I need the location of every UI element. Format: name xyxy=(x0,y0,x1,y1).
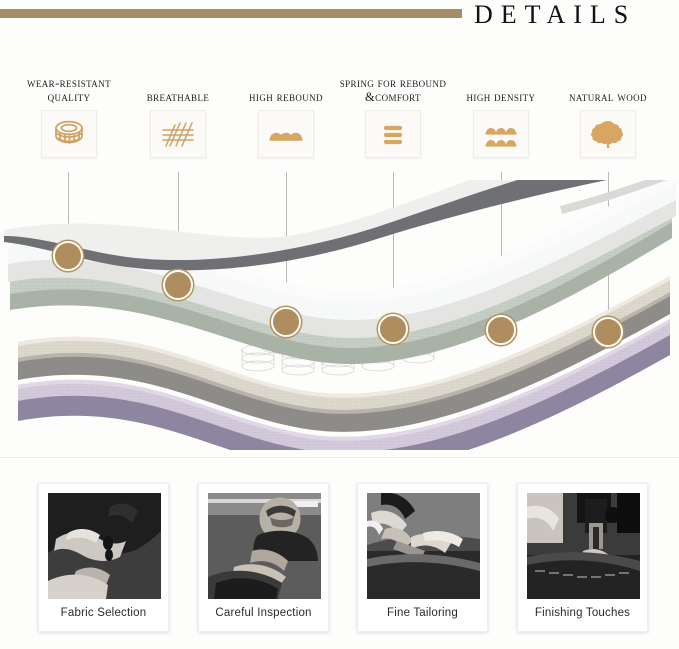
hotspot-breathable[interactable] xyxy=(163,270,193,300)
feature-list: Wear-Resistant Quality Breathable xyxy=(0,58,679,183)
feature-item-wear-resistant-quality[interactable]: Wear-Resistant Quality xyxy=(10,58,128,158)
diagonal-springs-icon xyxy=(373,117,413,151)
hotspot-natural-wood[interactable] xyxy=(593,317,623,347)
feature-item-high-density[interactable]: High Density xyxy=(442,58,560,158)
process-card-list: Fabric Selection Ca xyxy=(0,470,679,649)
hotspot-high-density[interactable] xyxy=(486,315,516,345)
hotspot-wear-resistant-quality[interactable] xyxy=(53,241,83,271)
header-rule xyxy=(0,9,462,18)
page-header: DETAILS xyxy=(0,0,679,46)
process-card-caption: Fabric Selection xyxy=(48,607,159,619)
process-card[interactable]: Fabric Selection xyxy=(38,483,169,632)
feature-label: Spring for Rebound &Comfort xyxy=(334,58,452,104)
feature-item-high-rebound[interactable]: High Rebound xyxy=(227,58,345,158)
process-card-caption: Fine Tailoring xyxy=(367,607,478,619)
sewing-machine-stitching-photo xyxy=(527,493,640,599)
three-arches-icon xyxy=(266,117,306,151)
hotspot-high-rebound[interactable] xyxy=(271,307,301,337)
feature-item-natural-wood[interactable]: Natural Wood xyxy=(549,58,667,158)
feature-label: High Rebound xyxy=(227,58,345,104)
feature-item-breathable[interactable]: Breathable xyxy=(119,58,237,158)
process-card[interactable]: Careful Inspection xyxy=(198,483,329,632)
hands-holding-fabric-photo xyxy=(48,493,161,599)
process-card-caption: Finishing Touches xyxy=(527,607,638,619)
feature-icon-box xyxy=(150,110,206,158)
hand-cutting-material-photo xyxy=(367,493,480,599)
details-page: DETAILS Wear-Resistant Quality Breathabl… xyxy=(0,0,679,649)
tree-icon xyxy=(588,117,628,151)
feature-label: High Density xyxy=(442,58,560,104)
feature-label: Wear-Resistant Quality xyxy=(10,58,128,104)
feature-icon-box xyxy=(365,110,421,158)
mattress-layers-illustration xyxy=(0,180,679,450)
process-card[interactable]: Fine Tailoring xyxy=(357,483,488,632)
crosshatch-weave-icon xyxy=(158,117,198,151)
feature-label: Natural Wood xyxy=(549,58,667,104)
worker-inspecting-leather-photo xyxy=(208,493,321,599)
feature-icon-box xyxy=(473,110,529,158)
woven-mesh-cylinder-icon xyxy=(49,117,89,151)
feature-item-spring-for-rebound-comfort[interactable]: Spring for Rebound &Comfort xyxy=(334,58,452,158)
page-title: DETAILS xyxy=(474,0,679,30)
feature-icon-box xyxy=(580,110,636,158)
section-divider xyxy=(0,457,679,458)
feature-icon-box xyxy=(41,110,97,158)
feature-icon-box xyxy=(258,110,314,158)
stacked-domes-icon xyxy=(481,117,521,151)
feature-label: Breathable xyxy=(119,58,237,104)
process-card-caption: Careful Inspection xyxy=(208,607,319,619)
hotspot-spring-for-rebound[interactable] xyxy=(378,314,408,344)
process-card[interactable]: Finishing Touches xyxy=(517,483,648,632)
